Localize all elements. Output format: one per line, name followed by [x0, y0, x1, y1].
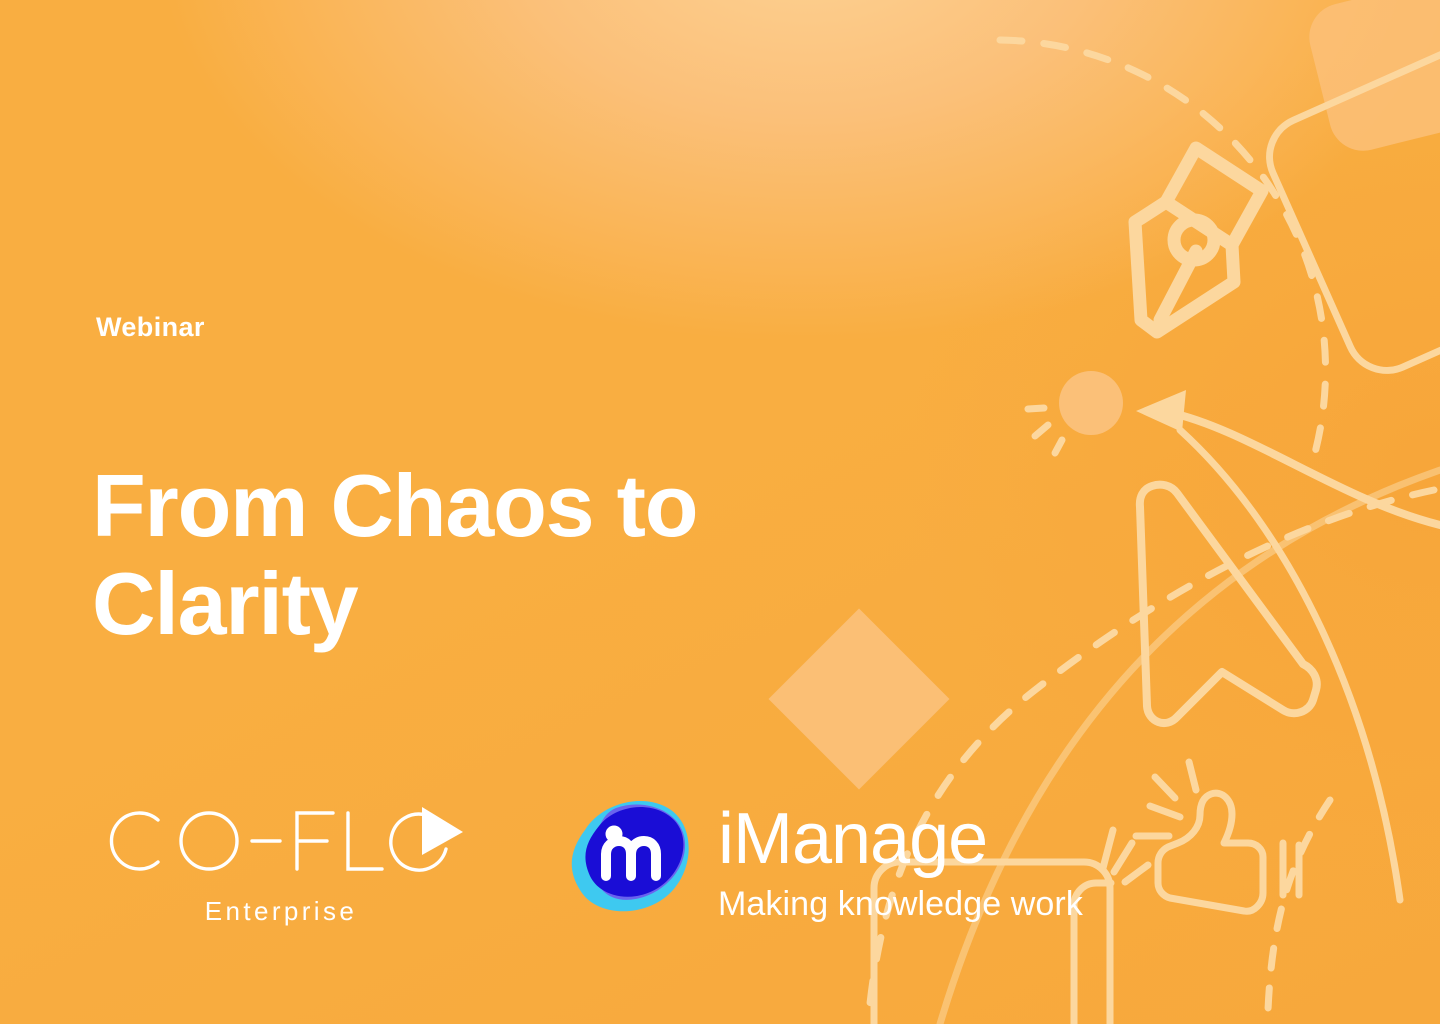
eyebrow-label: Webinar	[96, 312, 205, 343]
imanage-tagline: Making knowledge work	[718, 885, 1083, 924]
page-title: From Chaos to Clarity	[92, 457, 832, 652]
imanage-mark-icon	[568, 796, 700, 918]
imanage-logo: iManage Making knowledge work	[568, 796, 1083, 924]
imanage-wordmark: iManage	[718, 804, 1083, 875]
coflo-subtitle: Enterprise	[96, 896, 466, 927]
imanage-text-block: iManage Making knowledge work	[718, 796, 1083, 924]
coflo-logo: Enterprise	[96, 804, 466, 927]
coflo-wordmark-svg	[96, 804, 466, 878]
coflo-wordmark	[96, 804, 466, 878]
webinar-title-slide: Webinar From Chaos to Clarity	[0, 0, 1440, 1024]
play-triangle-icon	[422, 807, 463, 855]
